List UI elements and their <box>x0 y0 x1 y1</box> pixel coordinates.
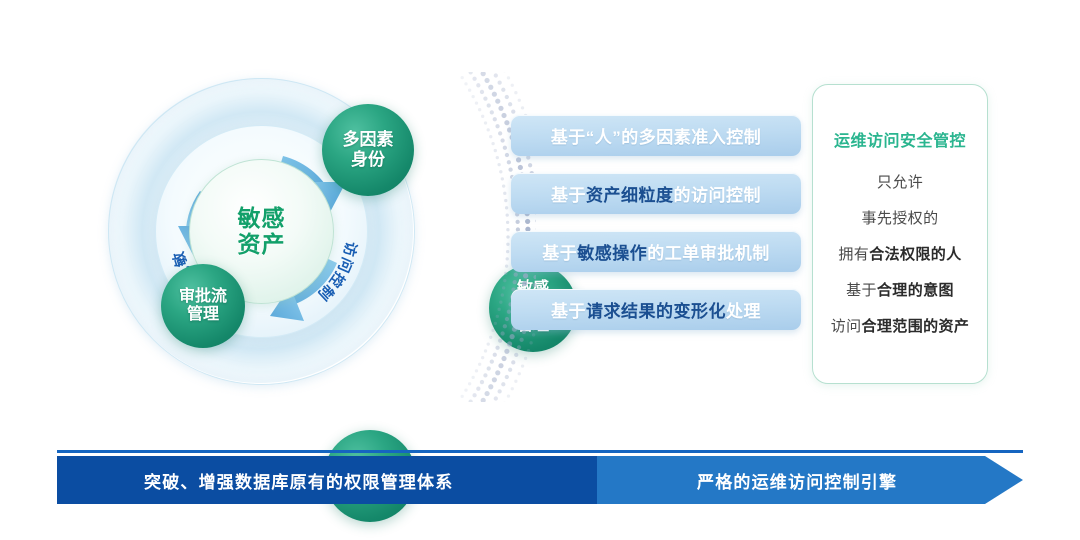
gp4-plain: 基于 <box>846 282 877 299</box>
green-panel-line-5: 访问合理范围的资产 <box>831 315 970 336</box>
circular-diagram: 控制技术 访问控制 数据脱敏 敏感 资产 多因素 身份 审批流 管理 <box>108 78 413 383</box>
gp2-plain: 事先授权的 <box>861 210 938 227</box>
pill4-post: 处理 <box>726 297 761 322</box>
pill-multi-factor-admission-control[interactable]: 基于 “人” 的多因素准入控制 <box>511 115 801 156</box>
pill3-mid: 敏感操作 <box>577 239 647 264</box>
banner-label-left: 突破、增强数据库原有的权限管理体系 <box>144 456 453 504</box>
bubble-top-line2: 身份 <box>343 150 394 170</box>
pill4-mid: 请求结果的变形化 <box>586 297 726 322</box>
gp3-plain: 拥有 <box>838 246 869 263</box>
pill2-pre: 基于 <box>551 181 586 206</box>
pill4-pre: 基于 <box>551 297 586 322</box>
pill2-mid: 资产细粒度 <box>586 181 674 206</box>
pill2-post: 的访问控制 <box>674 181 762 206</box>
green-panel-line-4: 基于合理的意图 <box>846 279 954 300</box>
gp5-plain: 访问 <box>831 318 862 335</box>
bubble-left-line1: 审批流 <box>179 288 227 306</box>
bubble-left-line2: 管理 <box>179 306 227 324</box>
gp4-bold: 合理的意图 <box>877 282 954 299</box>
banner-label-right: 严格的运维访问控制引擎 <box>697 456 897 504</box>
ops-access-security-panel: 运维访问安全管控 只允许 事先授权的 拥有合法权限的人 基于合理的意图 访问合理… <box>812 84 988 384</box>
green-panel-line-2: 事先授权的 <box>861 207 938 228</box>
bubble-top-line1: 多因素 <box>343 130 394 150</box>
pill1-post: 的多因素准入控制 <box>621 123 761 148</box>
green-panel-line-1: 只允许 <box>877 171 923 192</box>
pill-asset-granularity-access-control[interactable]: 基于 资产细粒度 的访问控制 <box>511 173 801 214</box>
pill3-post: 的工单审批机制 <box>647 239 770 264</box>
pill1-mid: “人” <box>586 123 622 148</box>
core-label-line1: 敏感 <box>238 206 286 232</box>
pill3-pre: 基于 <box>542 239 577 264</box>
green-panel-line-3: 拥有合法权限的人 <box>838 243 961 264</box>
gp5-bold: 合理范围的资产 <box>862 318 970 335</box>
gp3-bold: 合法权限的人 <box>869 246 961 263</box>
gp1-plain: 只允许 <box>877 174 923 191</box>
green-panel-title: 运维访问安全管控 <box>834 127 966 151</box>
bubble-multi-factor-identity[interactable]: 多因素 身份 <box>322 104 414 196</box>
core-label-line2: 资产 <box>238 232 286 258</box>
banner-top-rule <box>57 450 1023 453</box>
bubble-approval-flow-management[interactable]: 审批流 管理 <box>161 264 245 348</box>
bottom-banner: 突破、增强数据库原有的权限管理体系 严格的运维访问控制引擎 <box>57 456 1023 504</box>
pill1-pre: 基于 <box>551 123 586 148</box>
pill-sensitive-operation-ticket-approval[interactable]: 基于 敏感操作 的工单审批机制 <box>511 231 801 272</box>
diagram-canvas: 控制技术 访问控制 数据脱敏 敏感 资产 多因素 身份 审批流 管理 <box>0 0 1080 540</box>
pill-request-result-transformation[interactable]: 基于 请求结果的变形化 处理 <box>511 289 801 330</box>
